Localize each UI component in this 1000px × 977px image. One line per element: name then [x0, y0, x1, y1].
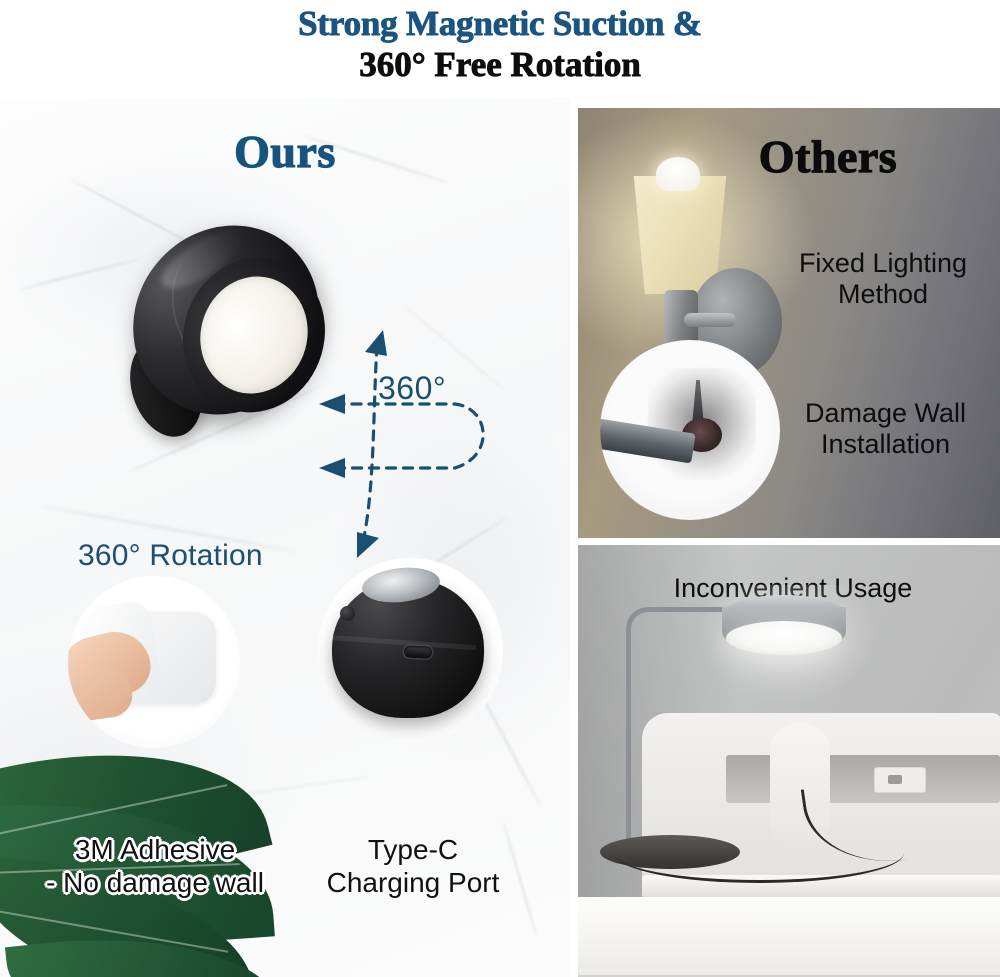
- damage-wall-caption: Damage Wall Installation: [778, 398, 993, 460]
- others-bottom-panel: Inconvenient Usage: [578, 545, 1000, 977]
- fixed-lighting-caption: Fixed Lighting Method: [773, 248, 993, 310]
- fixed-lighting-line-2: Method: [773, 279, 993, 310]
- damage-wall-line-2: Installation: [778, 429, 993, 460]
- title-line-1: Strong Magnetic Suction &: [0, 0, 1000, 44]
- arrowhead-up: [365, 330, 387, 356]
- adhesive-pad-photo: [68, 576, 240, 748]
- rotation-arrows-icon: [305, 316, 555, 566]
- adhesive-caption-line-1: 3M Adhesive: [10, 833, 300, 866]
- typec-caption-line-2: Charging Port: [288, 866, 538, 899]
- lamp-arm: [626, 607, 736, 853]
- arrowhead-left-lower: [319, 458, 345, 478]
- rotation-degree-label: 360°: [378, 370, 446, 407]
- damage-wall-line-1: Damage Wall: [778, 398, 993, 429]
- title-line-2: 360° Free Rotation: [0, 44, 1000, 86]
- arrowhead-down: [357, 532, 379, 558]
- ours-heading: Ours: [0, 125, 570, 178]
- wall-damage-photo: [600, 340, 780, 520]
- light-bulb-icon: [656, 157, 700, 191]
- lamp-lens: [726, 621, 842, 655]
- header-banner: Strong Magnetic Suction & 360° Free Rota…: [0, 0, 1000, 100]
- typec-caption: Type-C Charging Port: [288, 833, 538, 899]
- fixed-lighting-line-1: Fixed Lighting: [773, 248, 993, 279]
- ours-panel: Ours 360° 360° Rotation: [0, 98, 570, 977]
- sconce-stem: [684, 313, 736, 327]
- usb-c-port-icon: [404, 645, 433, 658]
- adhesive-caption: 3M Adhesive - No damage wall: [10, 833, 300, 899]
- others-top-panel: Others Fixed Lighting Method Damage Wall…: [578, 108, 1000, 538]
- power-button-icon: [340, 606, 355, 621]
- desk-surface: [578, 897, 1000, 977]
- arrowhead-left-upper: [319, 394, 345, 414]
- adhesive-caption-line-2: - No damage wall: [10, 866, 300, 899]
- rotation-caption: 360° Rotation: [78, 539, 263, 573]
- typec-caption-line-1: Type-C: [288, 833, 538, 866]
- others-heading: Others: [678, 130, 978, 183]
- usb-c-port-photo: [318, 558, 503, 743]
